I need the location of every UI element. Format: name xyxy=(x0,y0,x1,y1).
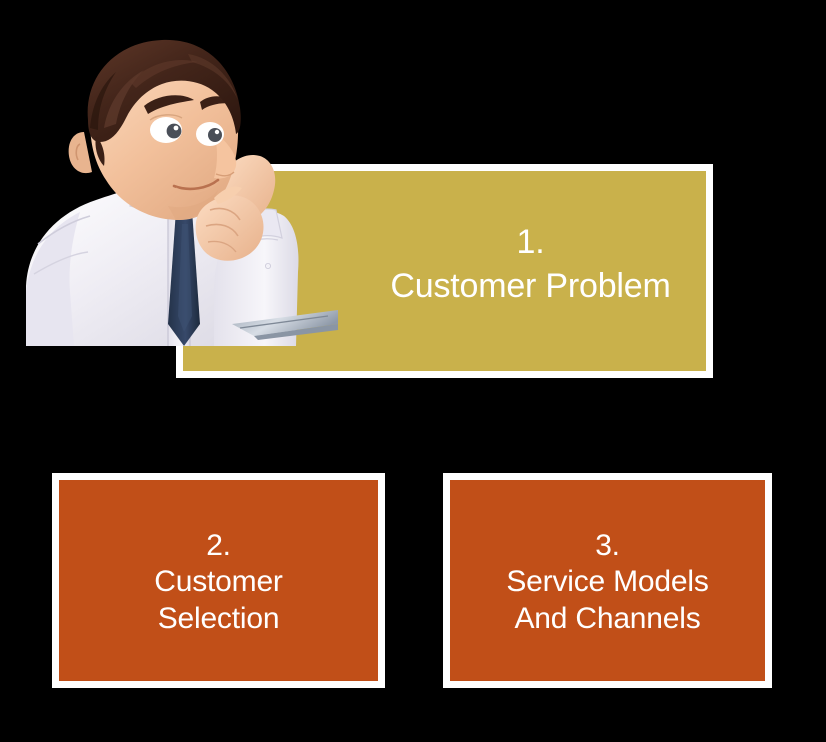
step-3-title-line-2: And Channels xyxy=(506,601,708,638)
step-2-title-line-1: Customer xyxy=(154,564,282,601)
step-1-number: 1. xyxy=(390,221,670,265)
step-card-1-body: 1. Customer Problem xyxy=(390,221,670,308)
step-3-number: 3. xyxy=(506,528,708,565)
step-2-title-line-2: Selection xyxy=(154,601,282,638)
step-card-1[interactable]: 1. Customer Problem xyxy=(176,164,713,378)
step-1-title: Customer Problem xyxy=(390,265,670,309)
step-card-3-body: 3. Service Models And Channels xyxy=(506,528,708,638)
step-card-2-fill: 2. Customer Selection xyxy=(59,480,378,681)
step-card-3[interactable]: 3. Service Models And Channels xyxy=(443,473,772,688)
step-3-title-line-1: Service Models xyxy=(506,564,708,601)
slide-canvas: 1. Customer Problem 2. Customer Selectio… xyxy=(0,0,826,742)
step-2-number: 2. xyxy=(154,528,282,565)
step-card-2[interactable]: 2. Customer Selection xyxy=(52,473,385,688)
step-card-1-fill: 1. Customer Problem xyxy=(183,171,706,371)
step-card-2-body: 2. Customer Selection xyxy=(154,528,282,638)
step-card-3-fill: 3. Service Models And Channels xyxy=(450,480,765,681)
